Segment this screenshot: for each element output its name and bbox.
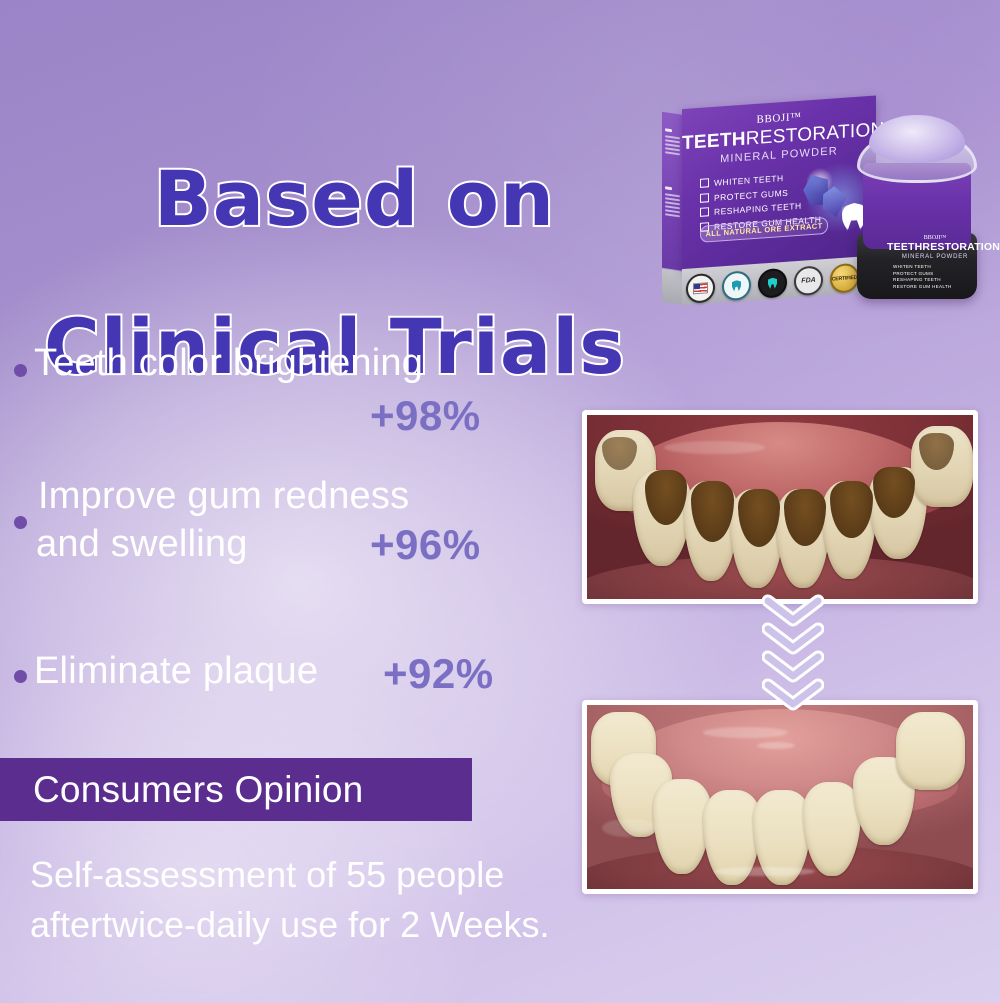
before-mouth-image [587,415,973,599]
caption-line-2: aftertwice-daily use for 2 Weeks. [30,900,630,950]
consumers-opinion-band: Consumers Opinion [0,758,472,821]
product-jar: BBOJI™ TEETHRESTORATION MINERAL POWDER W… [845,105,990,323]
jar-feature-list: WHITEN TEETH PROTECT GUMS RESHAPING TEET… [887,264,983,289]
benefit-label-2-line-2: and swelling [36,521,248,567]
benefit-label-1: Teeth color brightening [34,340,423,386]
jar-subtitle: MINERAL POWDER [887,254,983,260]
benefit-item-3: Eliminate plaque +92% [0,648,540,722]
headline-line-1: Based on [154,154,555,243]
mineral-powder-contents [869,115,965,163]
benefit-label-2-line-1: Improve gum redness [38,473,409,519]
headline: Based on Clinical Trials [44,88,664,532]
box-side-copy-block-2 [665,186,680,219]
gmp-badge [758,268,787,299]
bullet-dot-icon [14,364,27,377]
box-left-panel [662,112,684,271]
caption-line-1: Self-assessment of 55 people [30,854,504,895]
jar-feature-item: WHITEN TEETH [893,264,983,269]
poster-canvas: Based on Clinical Trials Teeth color bri… [0,0,1000,1003]
consumers-opinion-label: Consumers Opinion [33,769,363,811]
checkbox-icon [700,193,709,203]
fda-badge: FDA [794,265,823,296]
bullet-dot-icon [14,516,27,529]
before-photo [582,410,978,604]
jar-feature-item: RESTORE GUM HEALTH [893,284,983,289]
jar-label: BBOJI™ TEETHRESTORATION MINERAL POWDER W… [887,235,983,290]
dental-approved-badge [722,270,751,301]
checkbox-icon [700,178,709,188]
after-photo [582,700,978,894]
study-caption: Self-assessment of 55 people aftertwice-… [30,850,630,950]
chevron-down-icon [762,678,824,712]
after-mouth-image [587,705,973,889]
made-in-usa-badge [686,273,715,304]
box-base-left [662,269,684,305]
product-box: BBOJI™ TEETHRESTORATION MINERAL POWDER W… [662,96,876,307]
bullet-dot-icon [14,670,27,683]
benefit-label-3: Eliminate plaque [34,648,318,694]
product-title-bold: TEETH [682,129,746,154]
jar-title: TEETHRESTORATION [887,241,983,253]
benefit-item-1: Teeth color brightening +98% [0,340,540,414]
benefit-value-3: +92% [383,650,494,698]
checkbox-icon [700,207,709,217]
box-side-copy-block-1 [665,128,680,157]
jar-feature-item: PROTECT GUMS [893,271,983,276]
product-image-group: BBOJI™ TEETHRESTORATION MINERAL POWDER W… [640,95,1000,330]
jar-feature-item: RESHAPING TEETH [893,277,983,282]
benefit-item-2: Improve gum redness and swelling +96% [0,473,540,547]
benefit-value-1: +98% [370,392,481,440]
transition-arrows [745,594,841,724]
benefit-value-2: +96% [370,521,481,569]
